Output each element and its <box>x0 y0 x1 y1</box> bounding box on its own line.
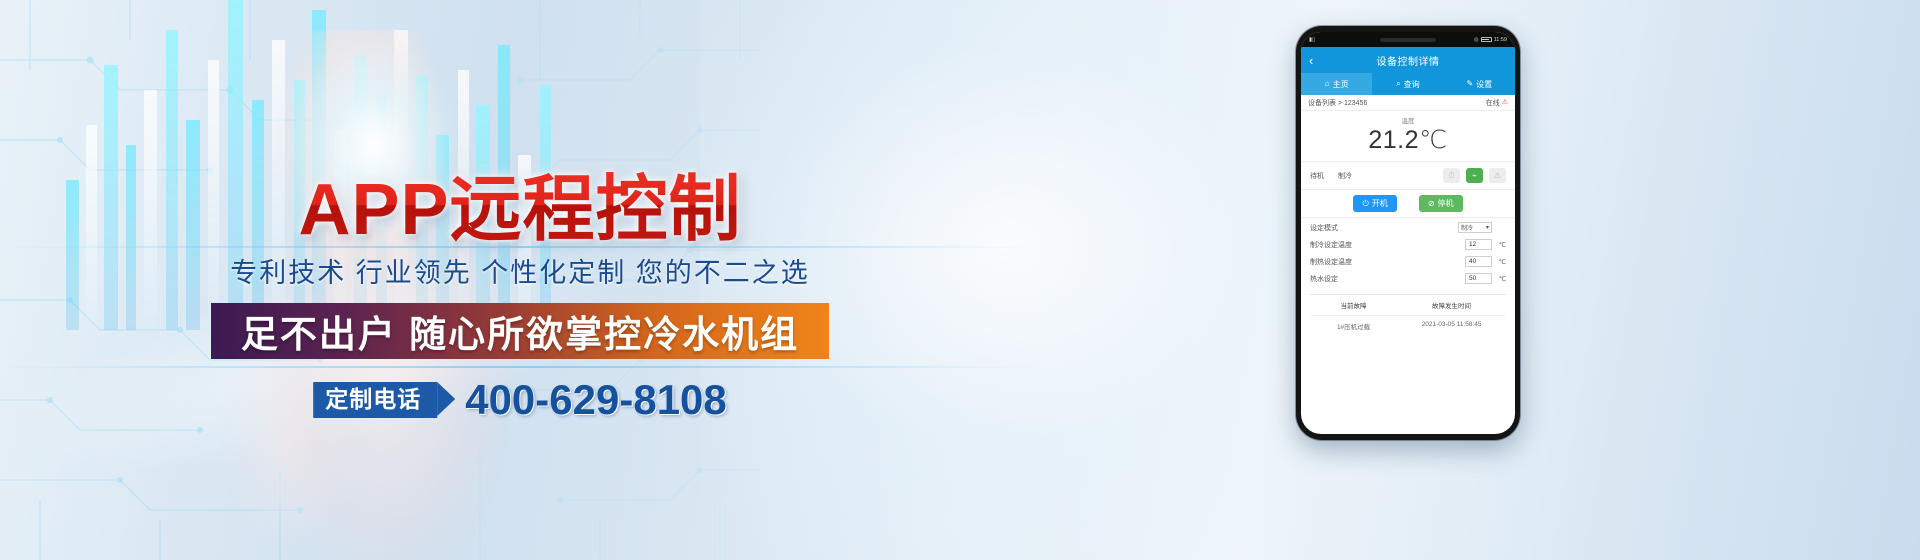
cool-temp-unit: ℃ <box>1492 241 1506 249</box>
setting-row-hotwater: 热水设定 50 ℃ <box>1310 270 1506 287</box>
ribbon-banner: 足不出户 随心所欲掌控冷水机组 <box>211 303 829 359</box>
fault-col-time: 故障发生时间 <box>1397 300 1506 310</box>
copy-block: APP远程控制 专利技术 行业领先 个性化定制 您的不二之选 足不出户 随心所欲… <box>0 0 1040 560</box>
contact-row: 定制电话 400-629-8108 <box>313 376 727 424</box>
status-bar: ▮▯ ◎ 11:59 <box>1301 32 1515 47</box>
setting-row-cool-temp: 制冷设定温度 12 ℃ <box>1310 236 1506 253</box>
tab-query-label: 查询 <box>1404 79 1420 90</box>
cool-temp-input[interactable]: 12 <box>1465 239 1492 250</box>
fault-table-header: 当前故障 故障发生时间 <box>1310 295 1506 315</box>
state-standby-label: 待机 <box>1310 171 1324 181</box>
power-on-label: 开机 <box>1372 198 1388 209</box>
alarm-icon[interactable]: ⚠ <box>1489 168 1506 183</box>
action-buttons: ⏻ 开机 ⊘ 停机 <box>1301 190 1515 218</box>
status-bar-right: ◎ 11:59 <box>1474 37 1507 43</box>
page-title: APP远程控制 <box>298 150 741 255</box>
status-bar-left: ▮▯ <box>1309 37 1315 43</box>
breadcrumb: 设备列表 > 123456 在线 ⚠ <box>1301 95 1515 111</box>
battery-icon <box>1481 37 1492 42</box>
setting-row-heat-temp: 制热设定温度 40 ℃ <box>1310 253 1506 270</box>
temperature-display: 温度 21.2℃ <box>1301 111 1515 162</box>
state-cooling-label: 制冷 <box>1338 171 1352 181</box>
signal-icon: ▮▯ <box>1309 37 1315 43</box>
speaker-pill <box>1380 38 1436 42</box>
mode-select[interactable]: 制冷 ▾ <box>1458 222 1492 233</box>
ribbon-text: 足不出户 随心所欲掌控冷水机组 <box>241 304 799 358</box>
hotwater-label: 热水设定 <box>1310 274 1465 284</box>
status-badge: 在线 ⚠ <box>1486 98 1508 108</box>
heat-temp-unit: ℃ <box>1492 258 1506 266</box>
promo-banner: APP远程控制 专利技术 行业领先 个性化定制 您的不二之选 足不出户 随心所欲… <box>0 0 1920 560</box>
temperature-value: 21.2℃ <box>1301 125 1515 155</box>
chart-icon[interactable]: ⌁ <box>1466 168 1483 183</box>
cool-temp-label: 制冷设定温度 <box>1310 240 1465 250</box>
tab-home-label: 主页 <box>1333 79 1349 90</box>
heat-temp-input[interactable]: 40 <box>1465 256 1492 267</box>
location-icon: ◎ <box>1474 37 1479 43</box>
tel-tag-label: 定制电话 <box>313 382 437 418</box>
tab-query[interactable]: ⌕ 查询 <box>1372 73 1443 95</box>
mode-select-value: 制冷 <box>1461 223 1473 232</box>
setting-mode-label: 设定模式 <box>1310 223 1458 233</box>
tab-home[interactable]: ⌂ 主页 <box>1301 73 1372 95</box>
table-row[interactable]: 1#压机过载 2021-03-05 11:58:45 <box>1310 315 1506 336</box>
state-icon-buttons: ⏱ ⌁ ⚠ <box>1443 168 1506 183</box>
phone-mockup: ▮▯ ◎ 11:59 ‹ 设备控制详情 ⌂ 主页 ⌕ <box>1296 26 1520 440</box>
power-on-button[interactable]: ⏻ 开机 <box>1353 195 1396 212</box>
heat-temp-label: 制热设定温度 <box>1310 257 1465 267</box>
chevron-down-icon: ▾ <box>1486 224 1489 231</box>
wrench-icon: ✎ <box>1466 80 1473 88</box>
power-icon: ⏻ <box>1362 199 1368 209</box>
tab-bar: ⌂ 主页 ⌕ 查询 ✎ 设置 <box>1301 73 1515 95</box>
search-icon: ⌕ <box>1396 80 1400 88</box>
hotwater-unit: ℃ <box>1492 275 1506 283</box>
warning-triangle-icon: ⚠ <box>1502 99 1508 106</box>
fault-time: 2021-03-05 11:58:45 <box>1397 321 1506 331</box>
breadcrumb-text[interactable]: 设备列表 > 123456 <box>1308 98 1367 108</box>
stop-icon: ⊘ <box>1428 199 1435 208</box>
home-icon: ⌂ <box>1325 80 1330 88</box>
fault-col-current: 当前故障 <box>1310 300 1397 310</box>
hotwater-input[interactable]: 50 <box>1465 273 1492 284</box>
status-bar-time: 11:59 <box>1494 37 1507 43</box>
phone-screen: ▮▯ ◎ 11:59 ‹ 设备控制详情 ⌂ 主页 ⌕ <box>1301 32 1515 434</box>
setting-row-mode: 设定模式 制冷 ▾ <box>1310 219 1506 236</box>
timer-icon[interactable]: ⏱ <box>1443 168 1460 183</box>
online-status-label: 在线 <box>1486 98 1500 108</box>
tab-settings-label: 设置 <box>1476 79 1492 90</box>
tel-number[interactable]: 400-629-8108 <box>465 376 727 424</box>
fault-table: 当前故障 故障发生时间 1#压机过载 2021-03-05 11:58:45 <box>1310 294 1506 336</box>
state-row: 待机 制冷 ⏱ ⌁ ⚠ <box>1301 162 1515 190</box>
app-title: 设备控制详情 <box>1301 53 1515 68</box>
temperature-label: 温度 <box>1301 115 1515 125</box>
settings-list: 设定模式 制冷 ▾ 制冷设定温度 12 ℃ 制热设定温度 40 ℃ <box>1301 218 1515 336</box>
subtitle: 专利技术 行业领先 个性化定制 您的不二之选 <box>230 251 810 290</box>
power-off-label: 停机 <box>1438 198 1454 209</box>
app-navbar: ‹ 设备控制详情 <box>1301 47 1515 73</box>
tab-settings[interactable]: ✎ 设置 <box>1444 73 1515 95</box>
fault-name: 1#压机过载 <box>1310 321 1397 331</box>
power-off-button[interactable]: ⊘ 停机 <box>1419 195 1463 212</box>
